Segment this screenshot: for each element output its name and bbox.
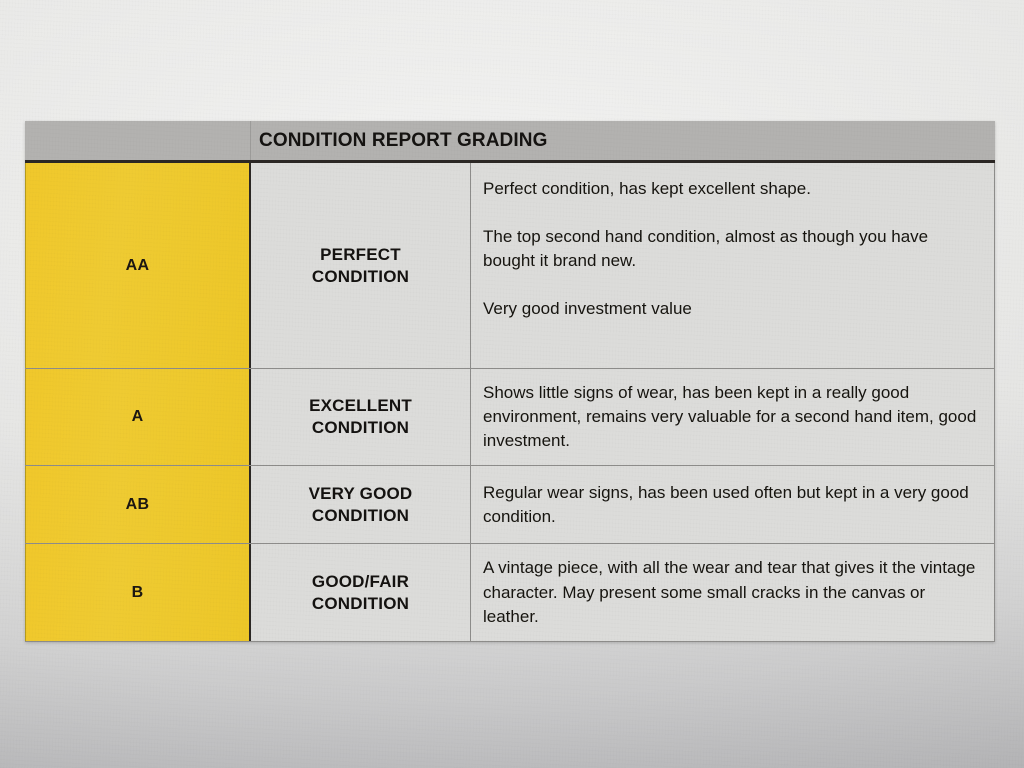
description-paragraph: The top second hand condition, almost as… (483, 225, 978, 273)
condition-description-aa: Perfect condition, has kept excellent sh… (471, 163, 995, 368)
condition-description-ab: Regular wear signs, has been used often … (471, 466, 995, 543)
description-paragraph: Very good investment value (483, 297, 978, 321)
table-row: AA PERFECT CONDITION Perfect condition, … (25, 163, 995, 369)
condition-label-line-2: CONDITION (312, 593, 409, 615)
condition-report-grading-table: CONDITION REPORT GRADING AA PERFECT COND… (25, 121, 995, 642)
table-header-row: CONDITION REPORT GRADING (25, 121, 995, 163)
description-paragraph: Perfect condition, has kept excellent sh… (483, 177, 978, 201)
condition-description-b: A vintage piece, with all the wear and t… (471, 544, 995, 640)
condition-label-aa: PERFECT CONDITION (251, 163, 471, 368)
grade-code-ab: AB (25, 466, 251, 543)
description-paragraph: Shows little signs of wear, has been kep… (483, 381, 978, 453)
table-row: A EXCELLENT CONDITION Shows little signs… (25, 369, 995, 466)
condition-label-line-2: CONDITION (312, 266, 409, 288)
condition-label-line-2: CONDITION (312, 505, 409, 527)
description-paragraph: Regular wear signs, has been used often … (483, 481, 978, 529)
header-grade-column-spacer (25, 121, 251, 160)
grade-code-a: A (25, 369, 251, 465)
condition-label-a: EXCELLENT CONDITION (251, 369, 471, 465)
grade-code-b: B (25, 544, 251, 640)
description-paragraph: A vintage piece, with all the wear and t… (483, 556, 978, 628)
condition-label-line-1: GOOD/FAIR (312, 571, 409, 593)
condition-label-line-1: VERY GOOD (309, 483, 413, 505)
condition-description-a: Shows little signs of wear, has been kep… (471, 369, 995, 465)
condition-label-ab: VERY GOOD CONDITION (251, 466, 471, 543)
condition-label-line-1: PERFECT (320, 244, 401, 266)
photographed-page: CONDITION REPORT GRADING AA PERFECT COND… (0, 0, 1024, 768)
table-row: B GOOD/FAIR CONDITION A vintage piece, w… (25, 544, 995, 641)
table-row: AB VERY GOOD CONDITION Regular wear sign… (25, 466, 995, 544)
condition-label-b: GOOD/FAIR CONDITION (251, 544, 471, 640)
condition-label-line-2: CONDITION (312, 417, 409, 439)
table-title: CONDITION REPORT GRADING (251, 131, 995, 150)
grade-code-aa: AA (25, 163, 251, 368)
condition-label-line-1: EXCELLENT (309, 395, 412, 417)
